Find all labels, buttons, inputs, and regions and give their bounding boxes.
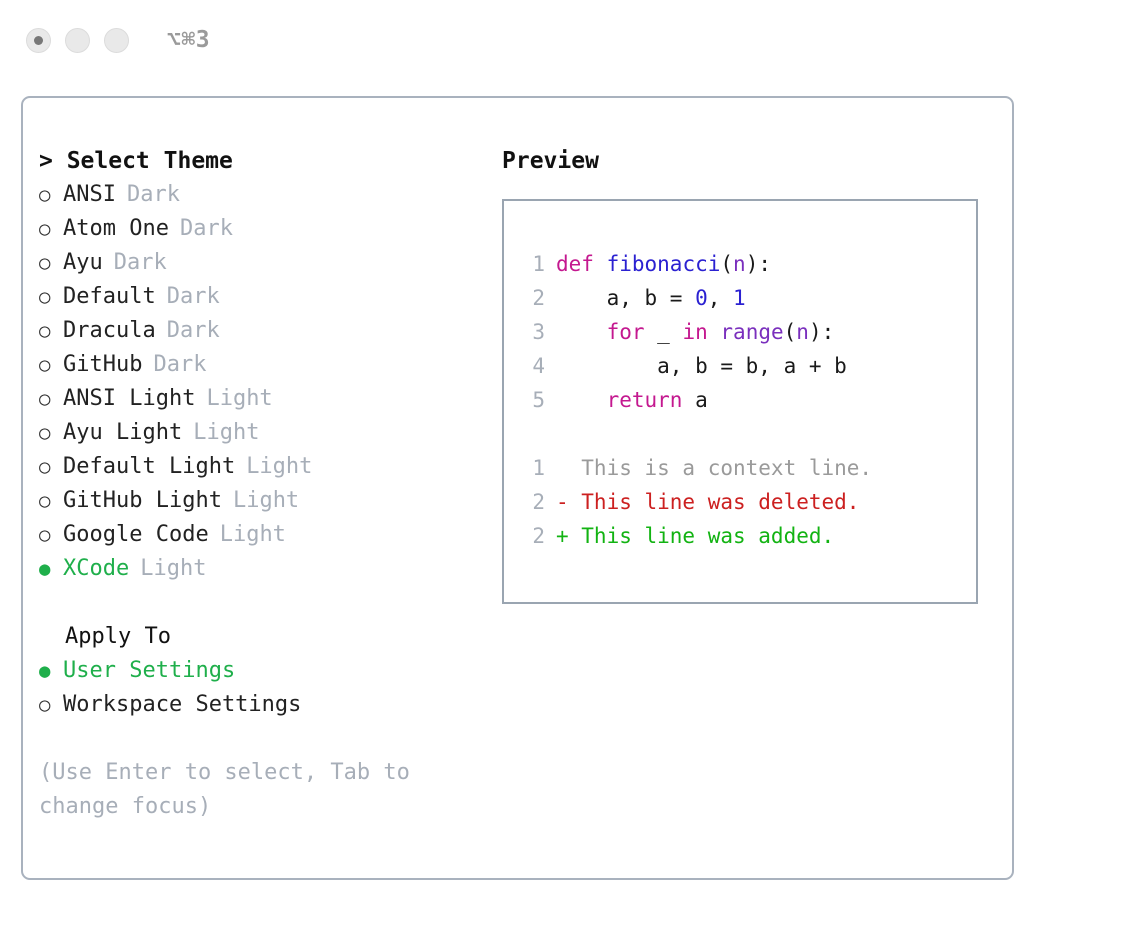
theme-name: Default Light [63, 450, 235, 484]
theme-kind: Dark [127, 178, 180, 212]
theme-list-item[interactable]: ○ ANSI Light Light [39, 382, 479, 416]
line-number: 2 [523, 281, 545, 315]
theme-name: XCode [63, 552, 129, 586]
theme-kind: Light [220, 518, 286, 552]
theme-kind: Light [246, 450, 312, 484]
radio-icon[interactable]: ○ [39, 348, 63, 382]
app-window: ⌥⌘3 > Select Theme ○ ANSI Dark ○ Atom On… [0, 0, 1140, 934]
main-panel: > Select Theme ○ ANSI Dark ○ Atom One Da… [21, 96, 1014, 880]
theme-list-item[interactable]: ○ GitHub Light Light [39, 484, 479, 518]
keyboard-hint-text: (Use Enter to select, Tab to change focu… [39, 756, 443, 824]
line-number: 2 [523, 485, 545, 519]
radio-icon[interactable]: ○ [39, 178, 63, 212]
theme-list-item[interactable]: ○ ANSI Dark [39, 178, 479, 212]
radio-icon[interactable]: ○ [39, 314, 63, 348]
theme-list-item[interactable]: ○ Default Dark [39, 280, 479, 314]
line-number: 1 [523, 247, 545, 281]
theme-kind: Dark [114, 246, 167, 280]
preview-heading: Preview [502, 144, 992, 178]
code-content: def fibonacci(n): [556, 247, 771, 281]
radio-icon[interactable]: ○ [39, 416, 63, 450]
theme-kind: Dark [167, 280, 220, 314]
theme-list-item[interactable]: ○ Google Code Light [39, 518, 479, 552]
diff-line-deleted: 2 - This line was deleted. [504, 485, 976, 519]
theme-kind: Dark [167, 314, 220, 348]
diff-line-context: 1 This is a context line. [504, 451, 976, 485]
code-line: 1 def fibonacci(n): [504, 247, 976, 281]
theme-kind: Light [233, 484, 299, 518]
apply-to-section: Apply To ● User Settings ○ Workspace Set… [39, 620, 479, 722]
theme-list-item-selected[interactable]: ● XCode Light [39, 552, 479, 586]
code-content: return a [556, 383, 708, 417]
apply-to-option-label: Workspace Settings [63, 688, 301, 722]
theme-kind: Light [206, 382, 272, 416]
apply-to-heading: Apply To [39, 620, 479, 654]
line-number: 3 [523, 315, 545, 349]
theme-name: GitHub [63, 348, 142, 382]
theme-kind: Light [193, 416, 259, 450]
theme-name: ANSI [63, 178, 116, 212]
line-number: 4 [523, 349, 545, 383]
radio-icon[interactable]: ○ [39, 450, 63, 484]
code-line: 5 return a [504, 383, 976, 417]
theme-name: Ayu Light [63, 416, 182, 450]
line-number: 1 [523, 451, 545, 485]
window-dot-second-icon[interactable] [65, 28, 90, 53]
select-theme-heading: > Select Theme [39, 144, 479, 178]
theme-list[interactable]: ○ ANSI Dark ○ Atom One Dark ○ Ayu Dark [39, 178, 479, 586]
code-blank-line [504, 417, 976, 451]
diff-content: + This line was added. [556, 519, 834, 553]
theme-kind: Dark [180, 212, 233, 246]
radio-icon[interactable]: ○ [39, 688, 63, 722]
theme-name: Default [63, 280, 156, 314]
apply-to-option-workspace-settings[interactable]: ○ Workspace Settings [39, 688, 479, 722]
theme-kind: Light [140, 552, 206, 586]
theme-name: ANSI Light [63, 382, 195, 416]
code-content: a, b = 0, 1 [556, 281, 746, 315]
theme-name: Atom One [63, 212, 169, 246]
window-controls [26, 28, 129, 53]
theme-list-item[interactable]: ○ Atom One Dark [39, 212, 479, 246]
radio-icon[interactable]: ○ [39, 518, 63, 552]
title-bar: ⌥⌘3 [0, 0, 1140, 80]
diff-line-added: 2 + This line was added. [504, 519, 976, 553]
radio-icon[interactable]: ○ [39, 246, 63, 280]
theme-list-item[interactable]: ○ Default Light Light [39, 450, 479, 484]
theme-selector-column: > Select Theme ○ ANSI Dark ○ Atom One Da… [39, 144, 479, 824]
theme-kind: Dark [153, 348, 206, 382]
radio-icon[interactable]: ○ [39, 382, 63, 416]
radio-icon[interactable]: ○ [39, 280, 63, 314]
radio-icon[interactable]: ○ [39, 484, 63, 518]
theme-list-item[interactable]: ○ GitHub Dark [39, 348, 479, 382]
theme-list-item[interactable]: ○ Ayu Dark [39, 246, 479, 280]
theme-name: Ayu [63, 246, 103, 280]
code-line: 3 for _ in range(n): [504, 315, 976, 349]
diff-content: This is a context line. [556, 451, 872, 485]
radio-selected-icon[interactable]: ● [39, 654, 63, 688]
window-dot-active-icon[interactable] [26, 28, 51, 53]
line-number: 2 [523, 519, 545, 553]
radio-icon[interactable]: ○ [39, 212, 63, 246]
theme-name: Google Code [63, 518, 209, 552]
diff-content: - This line was deleted. [556, 485, 859, 519]
preview-box: 1 def fibonacci(n): 2 a, b = 0, 1 3 for … [502, 199, 978, 604]
keyboard-shortcut-label: ⌥⌘3 [167, 27, 210, 53]
code-line: 2 a, b = 0, 1 [504, 281, 976, 315]
apply-to-option-user-settings[interactable]: ● User Settings [39, 654, 479, 688]
theme-name: Dracula [63, 314, 156, 348]
theme-name: GitHub Light [63, 484, 222, 518]
theme-list-item[interactable]: ○ Dracula Dark [39, 314, 479, 348]
apply-to-option-label: User Settings [63, 654, 235, 688]
theme-list-item[interactable]: ○ Ayu Light Light [39, 416, 479, 450]
window-dot-inner-icon [34, 36, 43, 45]
code-line: 4 a, b = b, a + b [504, 349, 976, 383]
radio-selected-icon[interactable]: ● [39, 552, 63, 586]
code-content: for _ in range(n): [556, 315, 834, 349]
code-content: a, b = b, a + b [556, 349, 847, 383]
line-number: 5 [523, 383, 545, 417]
preview-column: Preview 1 def fibonacci(n): 2 a, b = 0, … [502, 144, 992, 604]
window-dot-third-icon[interactable] [104, 28, 129, 53]
